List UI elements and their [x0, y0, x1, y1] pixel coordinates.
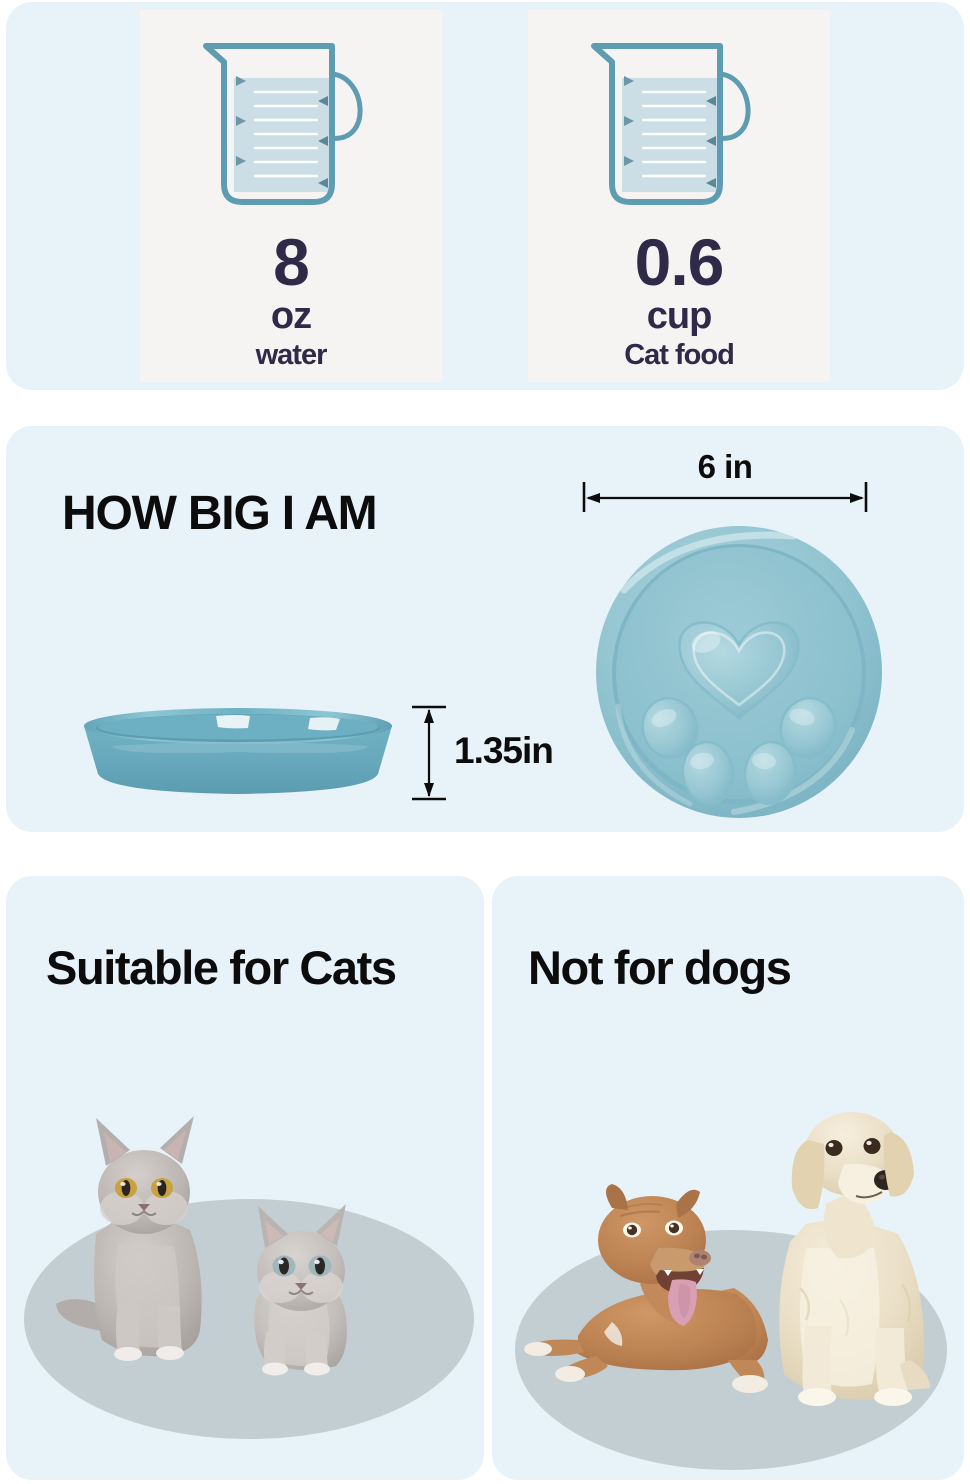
height-dimension: 1.35in	[412, 704, 612, 804]
product-infographic: 8 oz water	[0, 0, 970, 1484]
suitable-for-cats-heading: Suitable for Cats	[46, 938, 396, 998]
not-for-dogs-heading: Not for dogs	[528, 938, 791, 998]
food-amount-value: 0.6	[635, 229, 724, 295]
measurement-panel-water: 8 oz water	[140, 10, 442, 382]
size-heading: HOW BIG I AM	[62, 486, 376, 541]
bowl-top-view-image	[594, 520, 884, 820]
food-amount-label: Cat food	[624, 341, 734, 370]
measuring-cup-icon	[196, 32, 386, 215]
height-dimension-label: 1.35in	[454, 730, 553, 772]
dogs-photo	[500, 1088, 962, 1478]
cats-photo	[14, 1104, 484, 1476]
water-amount-value: 8	[273, 229, 309, 295]
width-dimension-label: 6 in	[580, 448, 870, 486]
bowl-side-view-image	[78, 702, 398, 802]
food-amount-unit: cup	[647, 297, 712, 335]
water-amount-unit: oz	[271, 297, 311, 335]
suitable-for-cats-card: Suitable for Cats	[6, 876, 484, 1480]
width-dimension: 6 in	[580, 448, 870, 512]
measuring-cup-icon	[584, 32, 774, 215]
water-amount-label: water	[256, 341, 327, 370]
measurement-card: 8 oz water	[6, 2, 964, 390]
measurement-panel-food: 0.6 cup Cat food	[528, 10, 830, 382]
not-for-dogs-card: Not for dogs	[492, 876, 964, 1480]
